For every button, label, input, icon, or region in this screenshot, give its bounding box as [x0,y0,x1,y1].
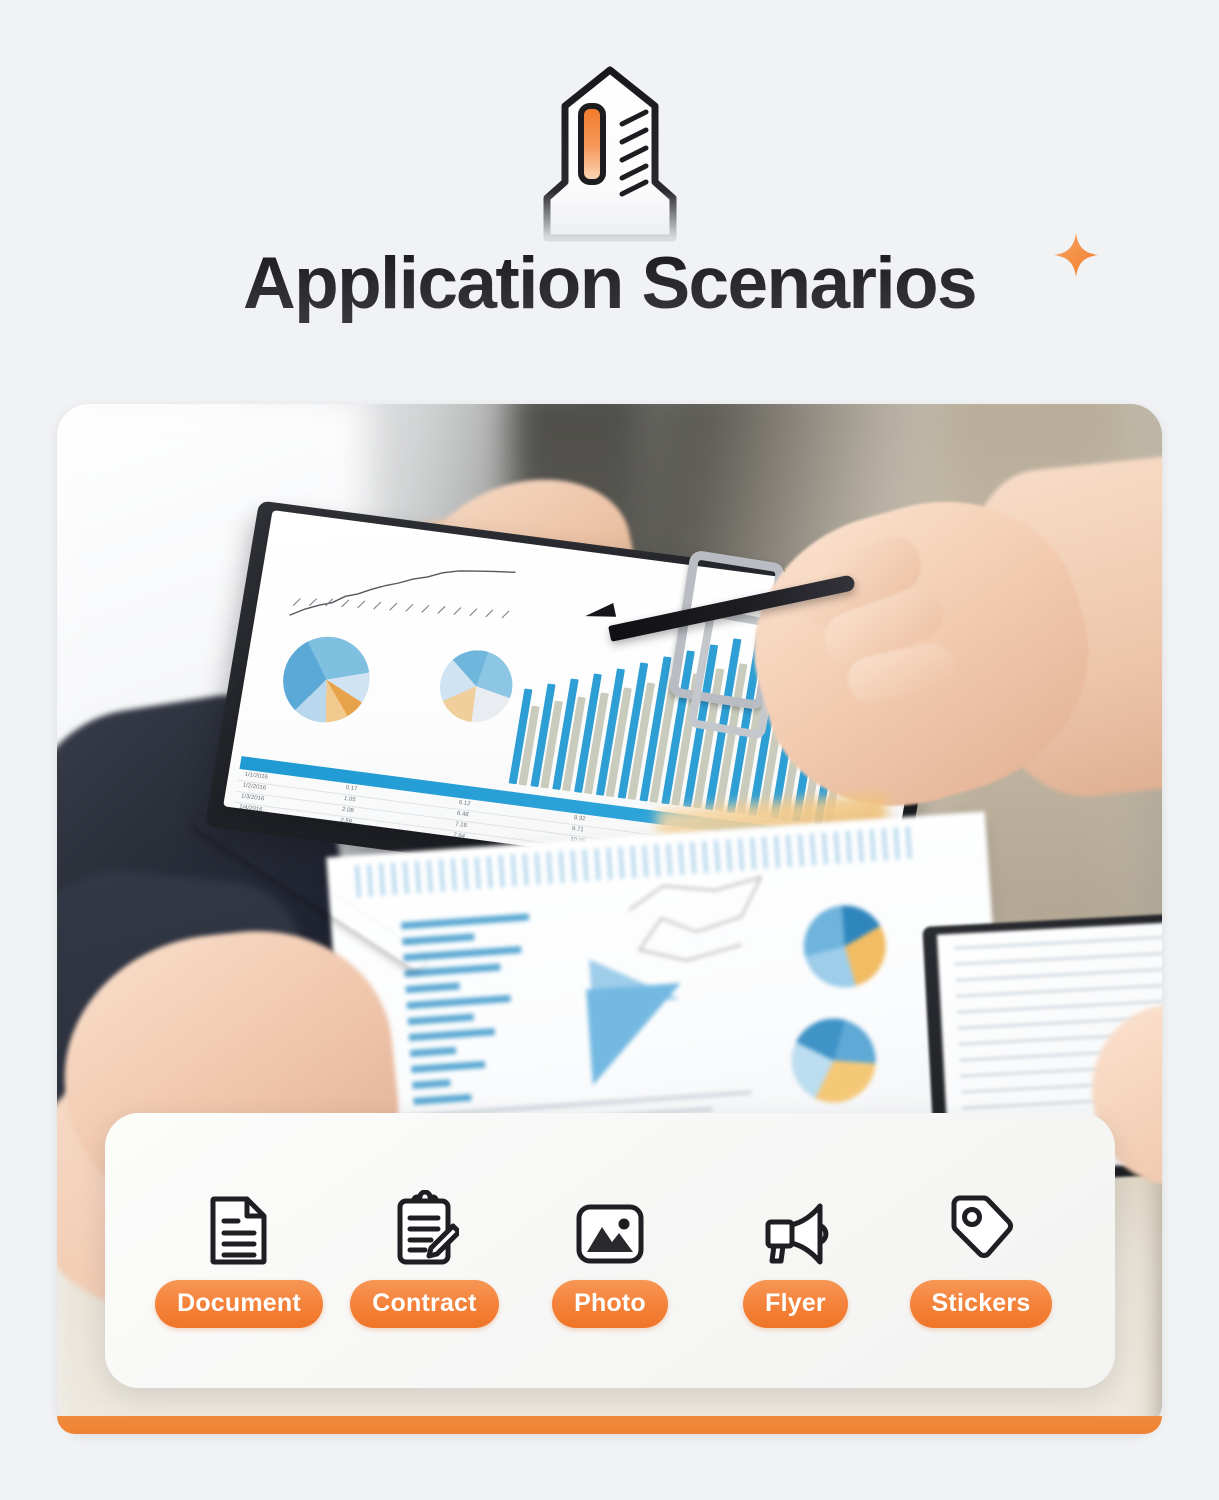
report-pie-chart-1 [277,632,376,728]
scenario-label[interactable]: Stickers [910,1280,1053,1328]
table-cell: 1.05 [343,796,356,803]
scenario-label[interactable]: Flyer [743,1280,848,1328]
table-cell: 6.12 [458,800,471,807]
document-page-icon [207,1174,271,1266]
price-tag-icon [947,1174,1015,1266]
application-scenarios-page: Application Scenarios [0,0,1219,1500]
header-section: Application Scenarios [0,0,1219,392]
building-skyscraper-icon [505,62,715,262]
clipboard-pencil-icon [391,1174,459,1266]
scenario-label[interactable]: Photo [552,1280,668,1328]
scenario-label[interactable]: Document [155,1280,323,1328]
scenarios-chip-row: Document Con [105,1113,1115,1388]
table-cell: 7.18 [455,822,468,829]
scenario-item-stickers[interactable]: Stickers [893,1174,1069,1328]
page-title: Application Scenarios [243,236,976,332]
image-picture-icon [574,1174,646,1266]
table-cell: 9.32 [573,815,586,822]
photo-accent-bar [57,1416,1162,1434]
table-cell: 1/1/2016 [244,772,268,781]
desk-doc-pie-1 [801,903,889,991]
table-cell: 0.17 [345,785,358,792]
scenario-label[interactable]: Contract [350,1280,498,1328]
scenarios-panel: Document Con [105,1113,1115,1388]
desk-doc-pie-2 [789,1016,879,1106]
table-cell: 6.48 [456,811,469,818]
desk-doc-area-chart [586,983,687,1085]
report-pie-chart-2 [435,646,518,726]
table-cell: 1/3/2016 [240,793,264,802]
scenario-item-contract[interactable]: Contract [337,1174,513,1328]
sparkle-icon [1051,230,1101,280]
scenario-item-flyer[interactable]: Flyer [708,1174,884,1328]
table-cell: 9.71 [571,826,584,833]
table-cell: 2.08 [342,807,355,814]
table-cell: 1/2/2016 [242,783,266,792]
scenario-item-document[interactable]: Document [151,1174,327,1328]
megaphone-icon [758,1174,834,1266]
page-title-row: Application Scenarios [0,236,1219,332]
scenario-item-photo[interactable]: Photo [522,1174,698,1328]
